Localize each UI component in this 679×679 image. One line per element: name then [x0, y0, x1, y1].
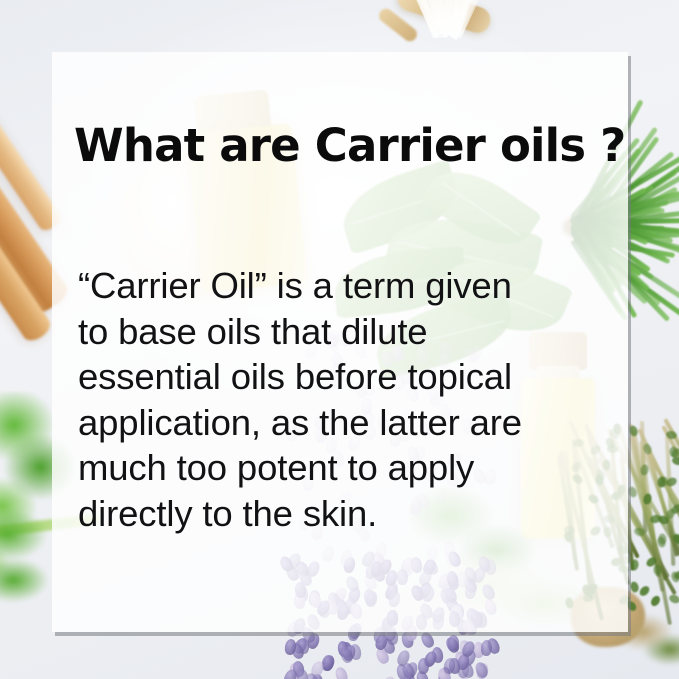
text-layer: What are Carrier oils ? “Carrier Oil” is… — [0, 0, 679, 679]
body-line: directly to the skin. — [78, 491, 608, 537]
body-line: essential oils before topical — [78, 354, 608, 400]
page-title: What are Carrier oils ? — [74, 122, 614, 171]
body-line: much too potent to apply — [78, 445, 608, 491]
carrier-oils-infographic: What are Carrier oils ? “Carrier Oil” is… — [0, 0, 679, 679]
body-line: “Carrier Oil” is a term given — [78, 263, 608, 309]
body-line: to base oils that dilute — [78, 309, 608, 355]
body-line: application, as the latter are — [78, 400, 608, 446]
body-paragraph: “Carrier Oil” is a term givento base oil… — [78, 263, 608, 536]
